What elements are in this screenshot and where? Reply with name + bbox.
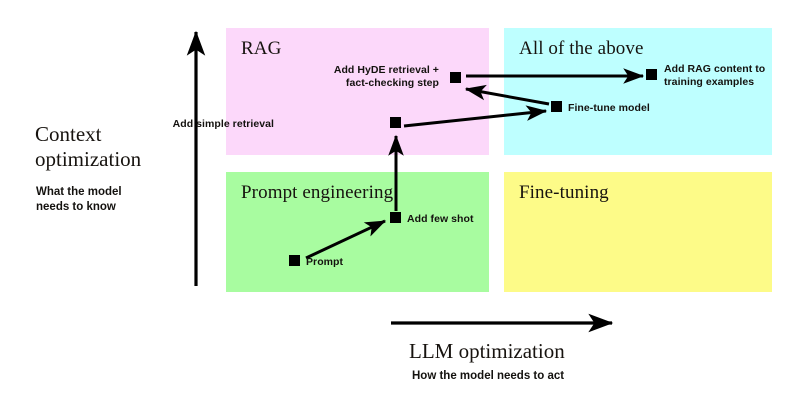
quadrant-label-all-of-the-above: All of the above [519, 38, 644, 60]
y-axis-subtitle-line1: What the model [36, 186, 122, 198]
node-label-rag-content-line1: Add RAG content to [664, 63, 765, 75]
diagram-canvas: RAG All of the above Prompt engineering … [0, 0, 794, 404]
node-prompt[interactable] [289, 255, 300, 266]
quadrant-label-fine-tuning: Fine-tuning [519, 182, 609, 204]
y-axis-title-line2: optimization [35, 147, 141, 171]
node-add-few-shot[interactable] [390, 212, 401, 223]
node-hyde-retrieval[interactable] [450, 72, 461, 83]
quadrant-label-prompt-engineering: Prompt engineering [241, 182, 393, 204]
node-fine-tune-model[interactable] [551, 101, 562, 112]
node-label-simple-retrieval: Add simple retrieval [173, 118, 274, 131]
node-label-hyde-retrieval: Add HyDE retrieval +fact-checking step [334, 64, 439, 90]
node-label-fine-tune-model: Fine-tune model [568, 102, 650, 115]
node-simple-retrieval[interactable] [390, 117, 401, 128]
node-label-hyde-retrieval-line2: fact-checking step [346, 77, 439, 89]
node-rag-content[interactable] [646, 69, 657, 80]
y-axis-subtitle-line2: needs to know [36, 201, 116, 213]
node-label-rag-content: Add RAG content totraining examples [664, 63, 765, 89]
quadrant-label-rag: RAG [241, 38, 281, 60]
node-label-rag-content-line2: training examples [664, 76, 754, 88]
node-label-prompt: Prompt [306, 256, 343, 269]
y-axis-subtitle: What the modelneeds to know [36, 185, 122, 215]
node-label-add-few-shot: Add few shot [407, 213, 474, 226]
y-axis-title-line1: Context [35, 122, 102, 146]
y-axis-title: Contextoptimization [35, 122, 141, 172]
x-axis-subtitle: How the model needs to act [412, 369, 564, 384]
node-label-hyde-retrieval-line1: Add HyDE retrieval + [334, 64, 439, 76]
x-axis-title: LLM optimization [409, 339, 565, 364]
